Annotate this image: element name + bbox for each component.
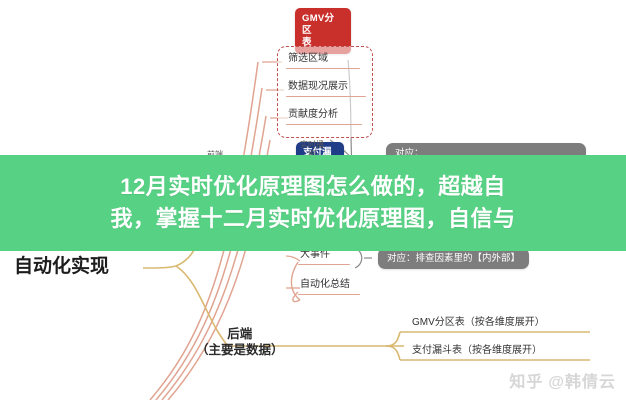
backend-output-gmv-partition[interactable]: GMV分区表（按各维度展开） (412, 316, 545, 332)
leaf-automation-summary-label: 自动化总结 (300, 279, 350, 290)
backend-output-payment-funnel[interactable]: 支付漏斗表（按各维度展开） (412, 344, 542, 360)
group-item-filter-area[interactable]: 筛选区域 (288, 52, 328, 68)
watermark-handle: @韩倩云 (548, 368, 616, 392)
backend-output-payment-funnel-label: 支付漏斗表（按各维度展开） (412, 345, 542, 356)
title-band-overlay: 12月实时优化原理图怎么做的，超越自 我，掌握十二月实时优化原理图，自信与 (0, 155, 626, 251)
annotation-pill-internal-external-label: 对应：排查因素里的【内外部】 (387, 253, 520, 264)
group-item-data-status-label: 数据现况展示 (288, 81, 348, 92)
annotation-pill-internal-external[interactable]: 对应：排查因素里的【内外部】 (378, 248, 529, 269)
leaf-automation-summary[interactable]: 自动化总结 (300, 278, 350, 294)
node-gmv-partition-table-label: GMV分区 表 (302, 13, 334, 48)
watermark: 知乎 @韩倩云 (509, 368, 616, 392)
label-backend-text: 后端 （主要是数据） (196, 327, 284, 357)
watermark-site-logo: 知乎 (509, 368, 543, 392)
label-automation-implementation-text: 自动化实现 (14, 256, 109, 277)
backend-output-gmv-partition-label: GMV分区表（按各维度展开） (412, 317, 545, 328)
title-band-text: 12月实时优化原理图怎么做的，超越自 我，掌握十二月实时优化原理图，自信与 (102, 171, 523, 235)
label-backend: 后端 （主要是数据） (196, 326, 284, 358)
screenshot-canvas: GMV分区 表 筛选区域 数据现况展示 贡献度分析 支付漏 斗表 前端 实时播 … (0, 0, 626, 400)
group-item-contribution-analysis[interactable]: 贡献度分析 (288, 108, 338, 124)
group-item-filter-area-label: 筛选区域 (288, 53, 328, 64)
group-item-contribution-analysis-label: 贡献度分析 (288, 109, 338, 120)
label-automation-implementation: 自动化实现 (14, 255, 109, 279)
group-item-data-status[interactable]: 数据现况展示 (288, 80, 348, 96)
